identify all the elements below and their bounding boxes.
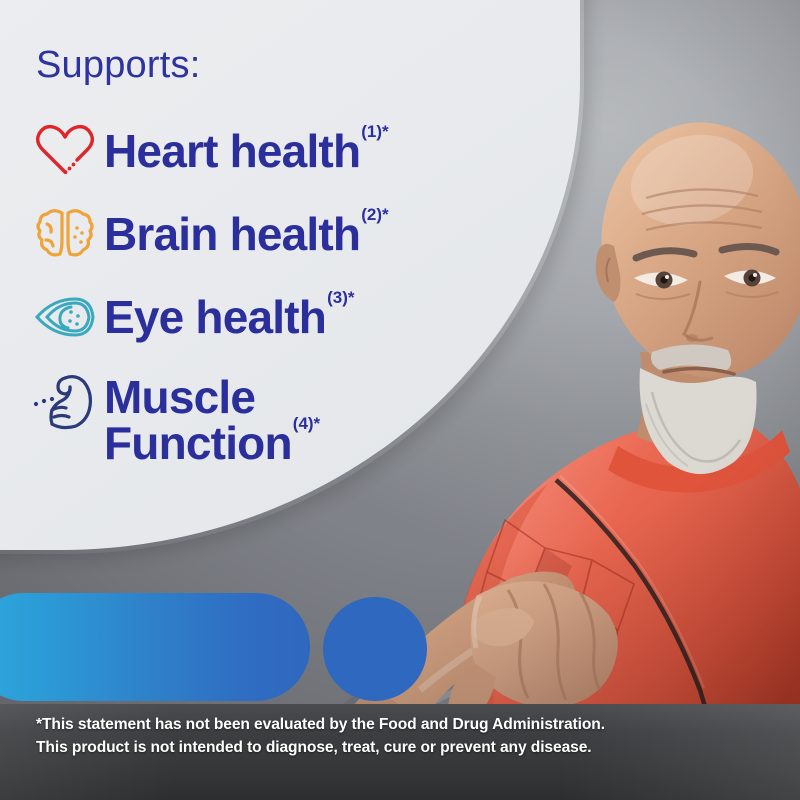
benefit-superscript: (1)* <box>361 122 388 141</box>
benefit-text: Brain health <box>104 208 360 260</box>
benefit-text-line2: Function <box>104 417 292 469</box>
benefit-text: Heart health <box>104 125 360 177</box>
eye-icon <box>26 295 104 339</box>
benefit-superscript: (3)* <box>327 288 354 307</box>
benefit-superscript: (2)* <box>361 205 388 224</box>
benefit-text-line1: Muscle <box>104 374 319 420</box>
brain-icon <box>26 206 104 262</box>
benefit-superscript: (4)* <box>293 414 320 433</box>
blue-circle-shape <box>323 597 427 701</box>
product-benefits-banner: Supports: Heart health(1)* <box>0 0 800 800</box>
heart-icon <box>26 123 104 179</box>
benefit-label-heart: Heart health(1)* <box>104 128 388 174</box>
disclaimer-text: *This statement has not been evaluated b… <box>36 713 772 759</box>
benefit-label-brain: Brain health(2)* <box>104 211 388 257</box>
benefit-text-line2-wrap: Function(4)* <box>104 420 319 466</box>
benefit-item-muscle: Muscle Function(4)* <box>26 360 546 480</box>
benefit-text: Eye health <box>104 291 326 343</box>
disclaimer-line-2: This product is not intended to diagnose… <box>36 736 772 759</box>
benefit-item-heart: Heart health(1)* <box>26 112 546 190</box>
benefit-label-eye: Eye health(3)* <box>104 294 354 340</box>
disclaimer-line-1: *This statement has not been evaluated b… <box>36 713 772 736</box>
muscle-icon <box>26 372 104 430</box>
benefit-item-brain: Brain health(2)* <box>26 194 546 274</box>
benefit-label-muscle: Muscle Function(4)* <box>104 374 319 466</box>
benefits-list: Heart health(1)* <box>26 112 546 484</box>
supports-heading: Supports: <box>36 44 200 87</box>
benefit-item-eye: Eye health(3)* <box>26 278 546 356</box>
blue-pill-shape <box>0 593 310 701</box>
